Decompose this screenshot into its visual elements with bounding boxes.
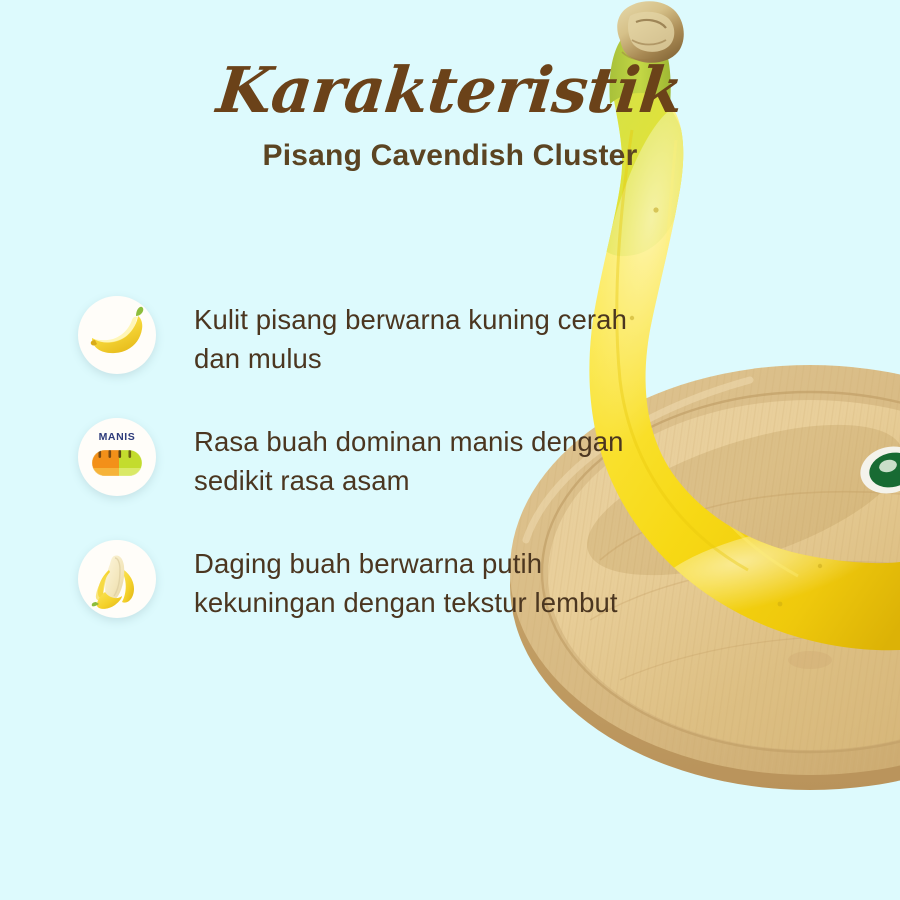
list-item-label: Kulit pisang berwarna kuning cerah dan m… (156, 296, 658, 378)
list-item-label: Daging buah berwarna putih kekuningan de… (156, 540, 658, 622)
poster-canvas: Karakteristik Pisang Cavendish Cluster (0, 0, 900, 900)
banana-sticker (855, 440, 900, 499)
page-subtitle: Pisang Cavendish Cluster (0, 139, 900, 173)
peeled-banana-icon (78, 540, 156, 618)
page-title: Karakteristik (0, 58, 900, 122)
characteristics-list: Kulit pisang berwarna kuning cerah dan m… (78, 296, 658, 622)
list-item: Kulit pisang berwarna kuning cerah dan m… (78, 296, 658, 378)
list-item: Daging buah berwarna putih kekuningan de… (78, 540, 658, 622)
header: Karakteristik Pisang Cavendish Cluster (0, 58, 900, 173)
sweetness-gauge-icon: MANIS (78, 418, 156, 496)
banana-icon (78, 296, 156, 374)
list-item-label: Rasa buah dominan manis dengan sedikit r… (156, 418, 658, 500)
list-item: MANIS (78, 418, 658, 500)
